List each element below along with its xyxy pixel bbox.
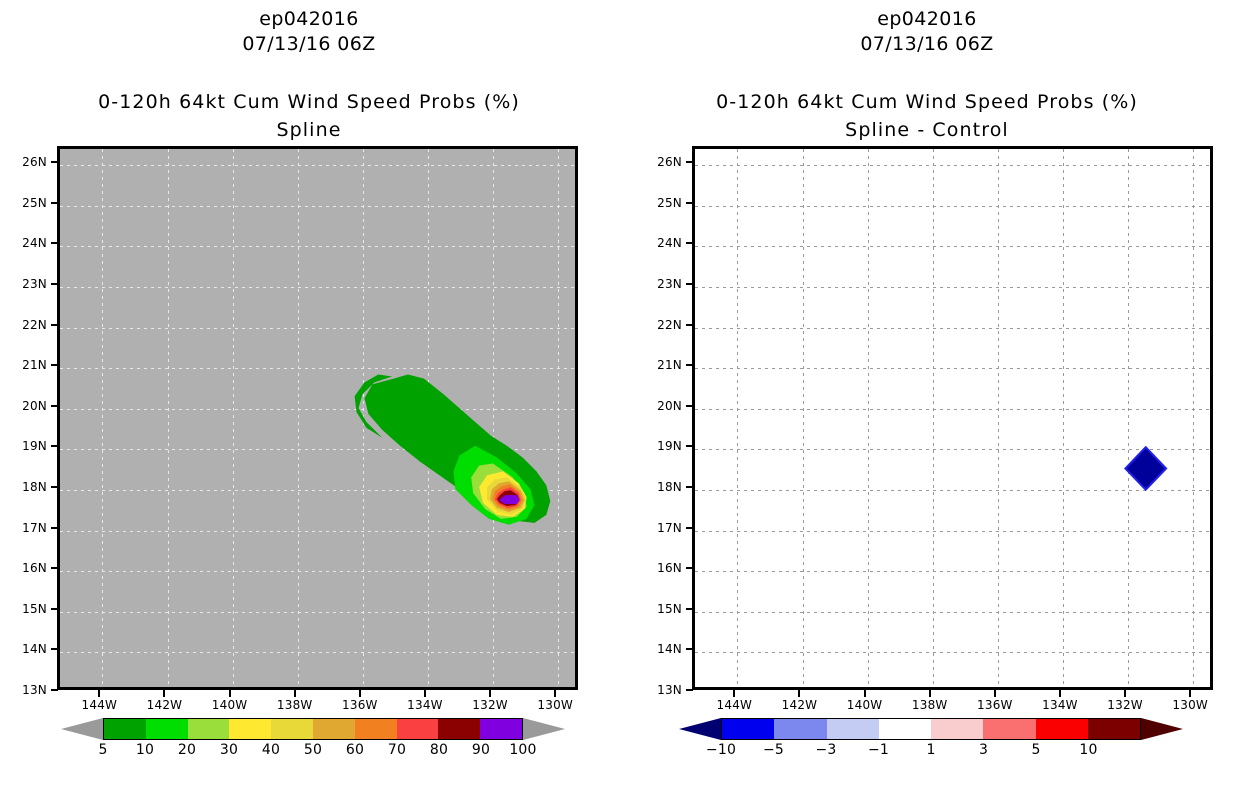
colorbar-tail-high — [1141, 718, 1183, 740]
x-axis-tick — [929, 690, 931, 697]
x-axis-label: 140W — [207, 698, 253, 712]
colorbar-tail-low — [679, 718, 721, 740]
map-plot-difference — [692, 146, 1213, 690]
colorbar-tick-label: 5 — [1012, 742, 1060, 758]
control-position-marker — [695, 149, 1210, 687]
y-axis-label: 18N — [13, 480, 47, 494]
colorbar-tick-label: −5 — [750, 742, 798, 758]
y-axis-label: 16N — [13, 561, 47, 575]
colorbar-tick-label: 80 — [415, 742, 463, 758]
y-axis-tick — [51, 242, 58, 244]
y-axis-label: 20N — [648, 399, 682, 413]
y-axis-tick — [51, 445, 58, 447]
colorbar-band — [480, 719, 522, 739]
colorbar-tick-label: −10 — [697, 742, 745, 758]
y-axis-label: 26N — [13, 155, 47, 169]
y-axis-label: 19N — [648, 439, 682, 453]
x-axis-tick — [864, 690, 866, 697]
y-axis-tick — [686, 608, 693, 610]
colorbar-tick-label: 1 — [907, 742, 955, 758]
x-axis-label: 134W — [1037, 698, 1083, 712]
y-axis-tick — [686, 405, 693, 407]
map-plot-spline — [57, 146, 578, 690]
colorbar-bands — [103, 718, 523, 740]
y-axis-label: 24N — [13, 236, 47, 250]
y-axis-tick — [51, 324, 58, 326]
y-axis-label: 18N — [648, 480, 682, 494]
colorbar-band — [722, 719, 774, 739]
colorbar-band — [879, 719, 931, 739]
colorbar-tick-label: 5 — [79, 742, 127, 758]
y-axis-tick — [51, 486, 58, 488]
storm-id-left: ep042016 — [0, 8, 618, 30]
colorbar-band — [774, 719, 826, 739]
y-axis-label: 23N — [13, 277, 47, 291]
y-axis-label: 14N — [648, 642, 682, 656]
y-axis-tick — [51, 405, 58, 407]
y-axis-tick — [686, 689, 693, 691]
y-axis-label: 13N — [13, 683, 47, 697]
colorbar-tick-label: −1 — [855, 742, 903, 758]
y-axis-tick — [51, 608, 58, 610]
colorbar-band — [146, 719, 188, 739]
y-axis-label: 15N — [648, 602, 682, 616]
y-axis-tick — [686, 486, 693, 488]
colorbar-probability: 5102030405060708090100 — [48, 718, 578, 778]
x-axis-label: 138W — [907, 698, 953, 712]
y-axis-label: 13N — [648, 683, 682, 697]
y-axis-label: 15N — [13, 602, 47, 616]
date-label-left: 07/13/16 06Z — [0, 33, 618, 55]
y-axis-label: 19N — [13, 439, 47, 453]
colorbar-tick-label: 10 — [1065, 742, 1113, 758]
x-axis-tick — [489, 690, 491, 697]
y-axis-tick — [51, 689, 58, 691]
x-axis-tick — [163, 690, 165, 697]
x-axis-tick — [424, 690, 426, 697]
y-axis-label: 26N — [648, 155, 682, 169]
y-axis-label: 22N — [13, 318, 47, 332]
colorbar-band — [983, 719, 1035, 739]
y-axis-tick — [51, 567, 58, 569]
colorbar-tail-high — [523, 718, 565, 740]
y-axis-label: 21N — [648, 358, 682, 372]
colorbar-tick-label: 60 — [331, 742, 379, 758]
x-axis-label: 136W — [972, 698, 1018, 712]
colorbar-band — [438, 719, 480, 739]
chart-subtitle-right: Spline - Control — [618, 119, 1236, 141]
storm-id-right: ep042016 — [618, 8, 1236, 30]
x-axis-label: 130W — [1167, 698, 1213, 712]
colorbar-band — [1036, 719, 1088, 739]
y-axis-label: 21N — [13, 358, 47, 372]
y-axis-label: 24N — [648, 236, 682, 250]
x-axis-tick — [229, 690, 231, 697]
panel-spline-minus-control: ep042016 07/13/16 06Z 0-120h 64kt Cum Wi… — [618, 0, 1236, 800]
y-axis-tick — [51, 161, 58, 163]
wind-probability-contours — [60, 149, 575, 687]
y-axis-tick — [51, 648, 58, 650]
x-axis-tick — [798, 690, 800, 697]
y-axis-tick — [686, 324, 693, 326]
colorbar-band — [355, 719, 397, 739]
y-axis-tick — [686, 202, 693, 204]
x-axis-label: 132W — [1102, 698, 1148, 712]
y-axis-tick — [686, 648, 693, 650]
colorbar-band — [313, 719, 355, 739]
y-axis-tick — [686, 445, 693, 447]
x-axis-tick — [1059, 690, 1061, 697]
x-axis-label: 138W — [272, 698, 318, 712]
colorbar-band — [397, 719, 439, 739]
colorbar-band — [271, 719, 313, 739]
panel-spline: ep042016 07/13/16 06Z 0-120h 64kt Cum Wi… — [0, 0, 618, 800]
y-axis-tick — [686, 242, 693, 244]
y-axis-label: 25N — [13, 196, 47, 210]
chart-title-right: 0-120h 64kt Cum Wind Speed Probs (%) — [618, 91, 1236, 113]
x-axis-label: 144W — [711, 698, 757, 712]
y-axis-tick — [686, 567, 693, 569]
colorbar-tick-label: 90 — [457, 742, 505, 758]
y-axis-tick — [51, 527, 58, 529]
y-axis-tick — [686, 527, 693, 529]
x-axis-tick — [98, 690, 100, 697]
x-axis-tick — [1124, 690, 1126, 697]
y-axis-tick — [51, 202, 58, 204]
colorbar-tick-label: 50 — [289, 742, 337, 758]
x-axis-tick — [994, 690, 996, 697]
y-axis-tick — [686, 364, 693, 366]
y-axis-label: 25N — [648, 196, 682, 210]
colorbar-tick-label: 40 — [247, 742, 295, 758]
colorbar-tick-label: 30 — [205, 742, 253, 758]
y-axis-tick — [51, 283, 58, 285]
x-axis-label: 144W — [76, 698, 122, 712]
x-axis-tick — [359, 690, 361, 697]
y-axis-label: 14N — [13, 642, 47, 656]
x-axis-tick — [1189, 690, 1191, 697]
colorbar-band — [827, 719, 879, 739]
x-axis-label: 134W — [402, 698, 448, 712]
colorbar-tick-label: 3 — [960, 742, 1008, 758]
y-axis-label: 17N — [648, 521, 682, 535]
date-label-right: 07/13/16 06Z — [618, 33, 1236, 55]
x-axis-tick — [733, 690, 735, 697]
colorbar-band — [188, 719, 230, 739]
x-axis-label: 136W — [337, 698, 383, 712]
y-axis-label: 23N — [648, 277, 682, 291]
x-axis-tick — [294, 690, 296, 697]
y-axis-tick — [51, 364, 58, 366]
chart-title-left: 0-120h 64kt Cum Wind Speed Probs (%) — [0, 91, 618, 113]
colorbar-tail-low — [61, 718, 103, 740]
colorbar-tick-label: −3 — [802, 742, 850, 758]
colorbar-tick-label: 20 — [163, 742, 211, 758]
x-axis-label: 140W — [842, 698, 888, 712]
x-axis-label: 142W — [141, 698, 187, 712]
x-axis-tick — [554, 690, 556, 697]
x-axis-label: 142W — [776, 698, 822, 712]
colorbar-tick-label: 70 — [373, 742, 421, 758]
colorbar-band — [1088, 719, 1140, 739]
colorbar-band — [104, 719, 146, 739]
y-axis-label: 16N — [648, 561, 682, 575]
colorbar-band — [931, 719, 983, 739]
y-axis-label: 20N — [13, 399, 47, 413]
colorbar-difference: −10−5−3−113510 — [666, 718, 1196, 778]
colorbar-bands — [721, 718, 1141, 740]
colorbar-tick-label: 100 — [499, 742, 547, 758]
y-axis-label: 17N — [13, 521, 47, 535]
x-axis-label: 130W — [532, 698, 578, 712]
chart-subtitle-left: Spline — [0, 119, 618, 141]
y-axis-tick — [686, 283, 693, 285]
x-axis-label: 132W — [467, 698, 513, 712]
y-axis-tick — [686, 161, 693, 163]
colorbar-tick-label: 10 — [121, 742, 169, 758]
colorbar-band — [229, 719, 271, 739]
y-axis-label: 22N — [648, 318, 682, 332]
